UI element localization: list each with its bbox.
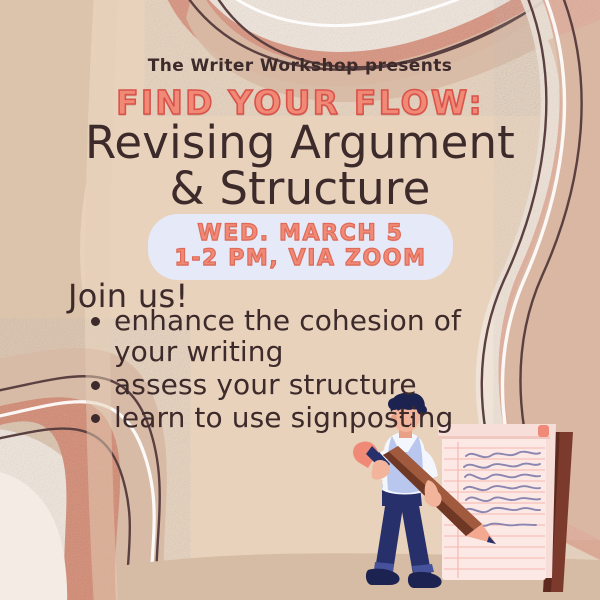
poster: The Writer Workshop presents FIND YOUR F… bbox=[0, 0, 600, 600]
subtitle-line-2: & Structure bbox=[0, 166, 600, 212]
badge-date: WED. MARCH 5 bbox=[158, 221, 443, 246]
list-item: learn to use signposting bbox=[86, 402, 516, 433]
badge-time: 1-2 PM, VIA ZOOM bbox=[158, 246, 443, 271]
poster-subtitle: Revising Argument & Structure bbox=[0, 120, 600, 212]
list-item: enhance the cohesion of your writing bbox=[86, 305, 516, 367]
organizer-line: The Writer Workshop presents bbox=[0, 56, 600, 76]
subtitle-line-1: Revising Argument bbox=[0, 120, 600, 166]
benefits-list: enhance the cohesion of your writing ass… bbox=[86, 305, 516, 435]
date-time-badge: WED. MARCH 5 1-2 PM, VIA ZOOM bbox=[148, 214, 453, 280]
list-item: assess your structure bbox=[86, 369, 516, 400]
